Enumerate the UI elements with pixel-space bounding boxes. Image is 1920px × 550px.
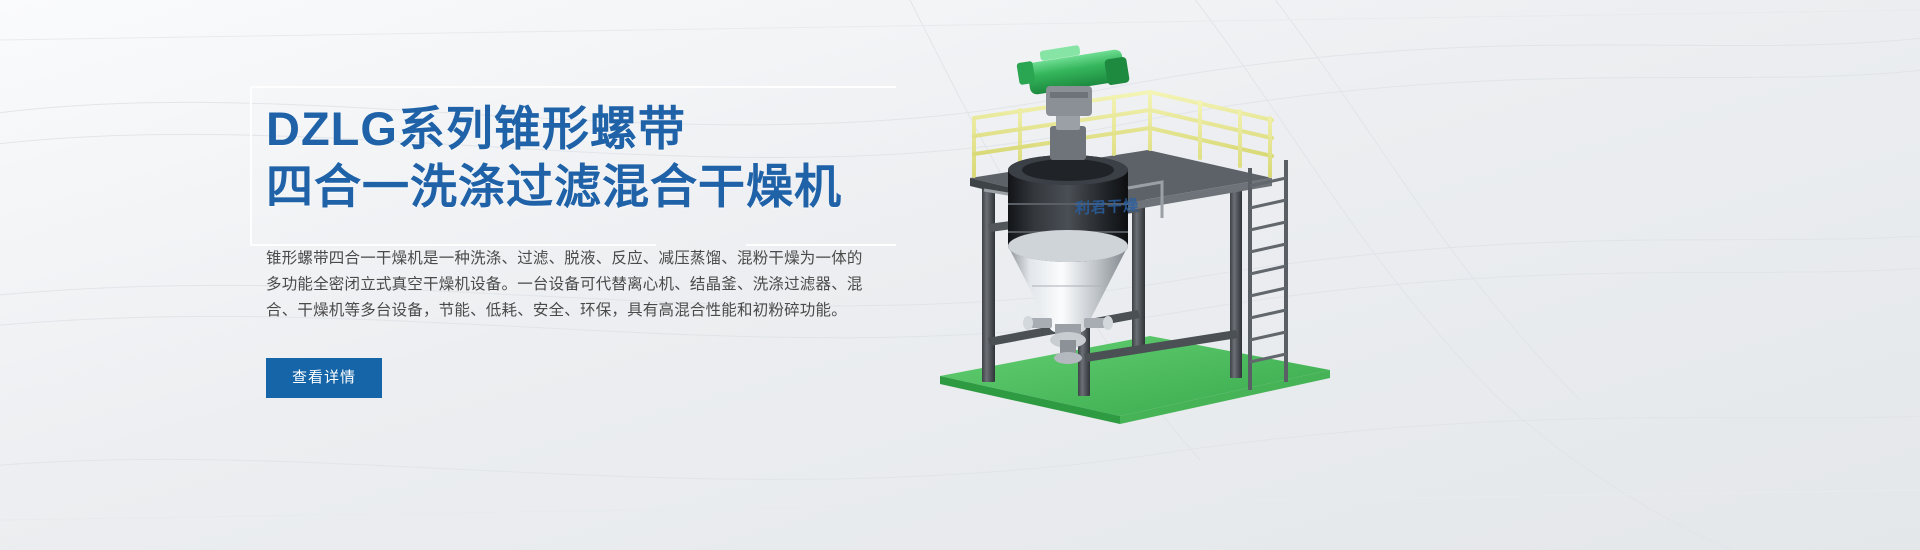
product-description: 锥形螺带四合一干燥机是一种洗涤、过滤、脱液、反应、减压蒸馏、混粉干燥为一体的多功… (266, 246, 866, 324)
view-details-button[interactable]: 查看详情 (266, 358, 382, 398)
title-line-1: DZLG系列锥形螺带 (266, 100, 910, 158)
ladder-rungs (1250, 178, 1286, 362)
title-line-2: 四合一洗涤过滤混合干燥机 (266, 158, 910, 216)
page-title: DZLG系列锥形螺带 四合一洗涤过滤混合干燥机 (266, 80, 910, 216)
hero-banner: DZLG系列锥形螺带 四合一洗涤过滤混合干燥机 锥形螺带四合一干燥机是一种洗涤、… (0, 0, 1920, 550)
banner-content: DZLG系列锥形螺带 四合一洗涤过滤混合干燥机 锥形螺带四合一干燥机是一种洗涤、… (250, 80, 910, 460)
product-illustration (900, 18, 1420, 438)
description-text: 锥形螺带四合一干燥机是一种洗涤、过滤、脱液、反应、减压蒸馏、混粉干燥为一体的多功… (266, 246, 866, 324)
